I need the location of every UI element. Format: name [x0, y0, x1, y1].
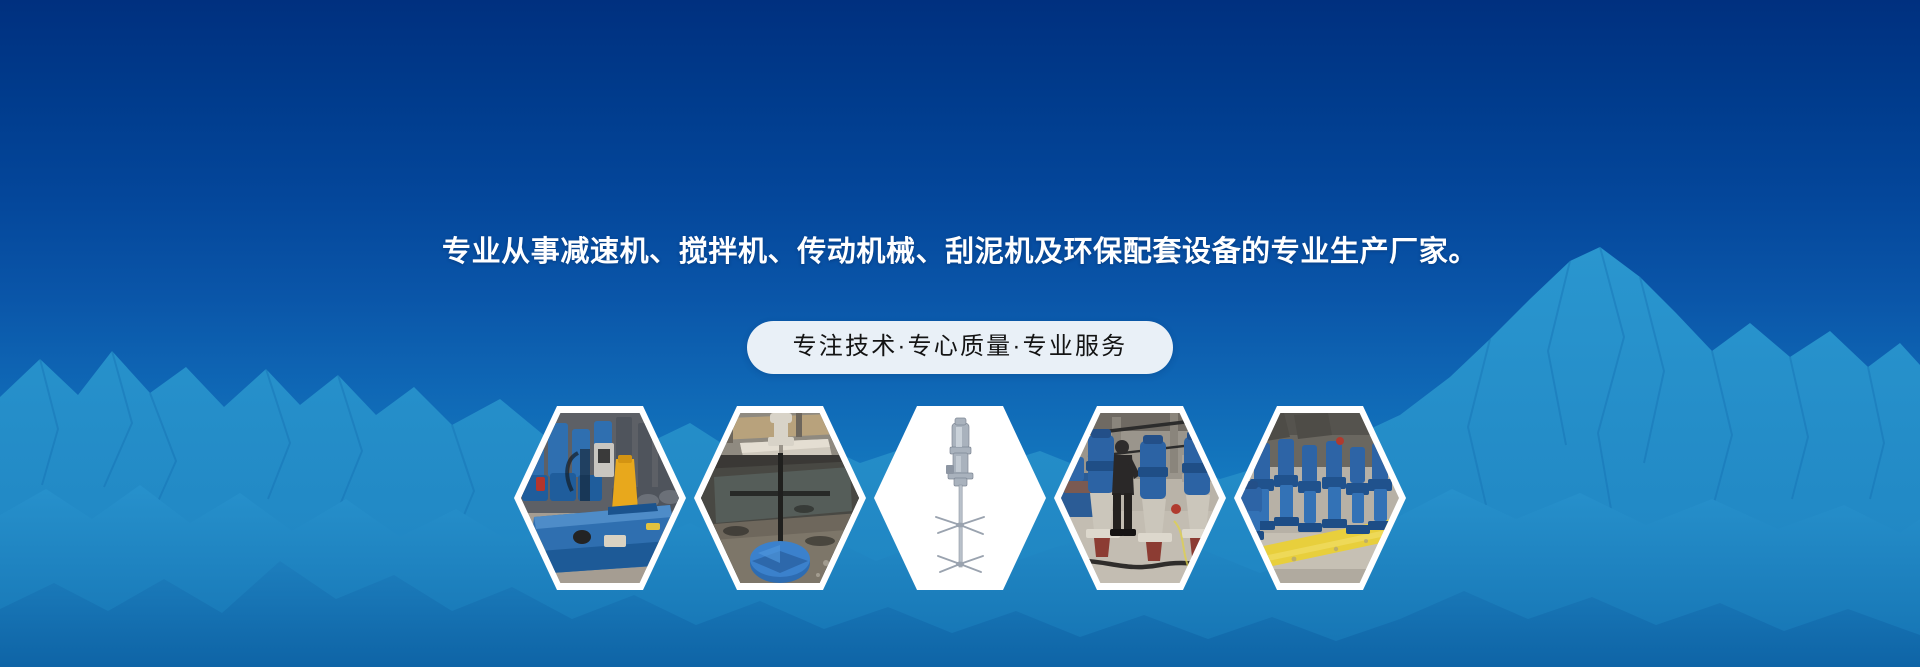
gallery-item-blue-gearbox-reducer-photo[interactable]: [514, 406, 686, 590]
hexagon-gallery: [0, 406, 1920, 590]
gallery-item-tank-mounted-mixer-photo[interactable]: [694, 406, 866, 590]
gallery-item-vertical-agitator-product-photo[interactable]: [874, 406, 1046, 590]
gallery-item-mixer-units-batch-photo[interactable]: [1234, 406, 1406, 590]
gallery-item-factory-mixer-assembly-photo[interactable]: [1054, 406, 1226, 590]
hero-banner: 专业从事减速机、搅拌机、传动机械、刮泥机及环保配套设备的专业生产厂家。 专注技术…: [0, 0, 1920, 667]
page-title: 专业从事减速机、搅拌机、传动机械、刮泥机及环保配套设备的专业生产厂家。: [0, 232, 1920, 272]
slogan-pill[interactable]: 专注技术·专心质量·专业服务: [747, 321, 1174, 374]
slogan-pill-container: 专注技术·专心质量·专业服务: [0, 321, 1920, 374]
